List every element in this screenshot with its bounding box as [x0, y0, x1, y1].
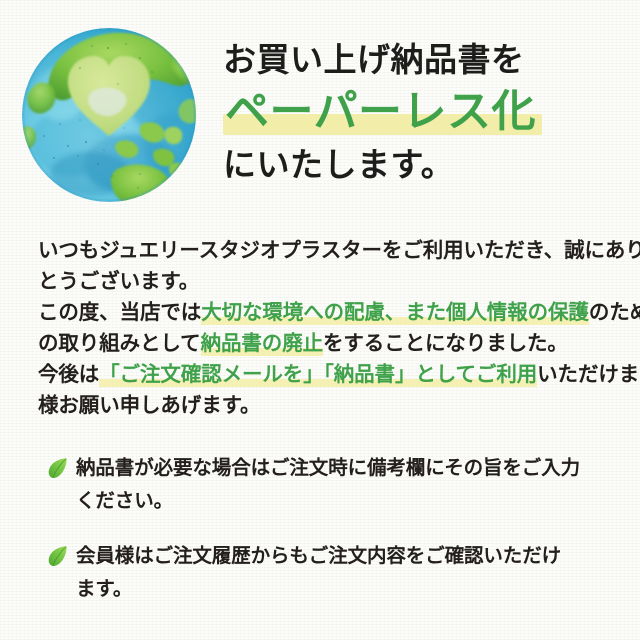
notice-page: お買い上げ納品書を ペーパーレス化 にいたします。 いつもジュエリースタジオプラ… [0, 0, 640, 640]
body-line-1: いつもジュエリースタジオプラスターをご利用いただき、誠にありが [38, 235, 608, 266]
note-1-line-1: 納品書が必要な場合はご注文時に備考欄にその旨をご入力 [76, 457, 580, 479]
page-title: お買い上げ納品書を ペーパーレス化 にいたします。 [223, 38, 635, 187]
list-item: 会員様はご注文履歴からもご注文内容をご確認いただけ ます。 [46, 540, 612, 606]
note-1-line-2: ください。 [76, 490, 173, 512]
note-2-line-2: ます。 [76, 578, 132, 600]
body-text-2-1: とうございます。 [38, 270, 199, 293]
body-text-3-1: この度、当店では [38, 301, 201, 324]
headline-line-2-highlighted: ペーパーレス化 [223, 84, 538, 140]
body-text-3-3: のため [589, 301, 640, 324]
body-line-6: 様お願い申しあげます。 [38, 390, 608, 421]
body-line-3: この度、当店では大切な環境への配慮、また個人情報の保護のため [38, 297, 608, 328]
list-item: 納品書が必要な場合はご注文時に備考欄にその旨をご入力 ください。 [46, 452, 612, 518]
leaf-icon [46, 452, 76, 480]
body-paragraph: いつもジュエリースタジオプラスターをご利用いただき、誠にありがとうございます。こ… [38, 235, 608, 421]
headline-line-3: にいたします。 [223, 143, 635, 187]
body-line-5: 今後は「ご注文確認メールを」「納品書」としてご利用いただけます [38, 359, 608, 390]
note-2-line-1: 会員様はご注文履歴からもご注文内容をご確認いただけ [76, 545, 561, 567]
body-line-2: とうございます。 [38, 266, 608, 297]
body-line-4: の取り組みとして納品書の廃止をすることになりました。 [38, 328, 608, 359]
body-emphasis-3-2: 大切な環境への配慮、また個人情報の保護 [201, 301, 589, 325]
body-emphasis-4-2: 納品書の廃止 [201, 332, 323, 356]
leaf-icon [46, 540, 76, 568]
earth-globe-icon [20, 24, 200, 206]
body-text-6-1: 様お願い申しあげます。 [38, 394, 260, 417]
body-text-4-1: の取り組みとして [38, 332, 201, 355]
body-emphasis-5-2: 「ご注文確認メールを」「納品書」としてご利用 [99, 363, 537, 387]
body-text-5-1: 今後は [38, 363, 99, 386]
body-text-1-1: いつもジュエリースタジオプラスターをご利用いただき、誠にありが [38, 239, 640, 262]
list-item-text: 納品書が必要な場合はご注文時に備考欄にその旨をご入力 ください。 [76, 452, 612, 518]
body-text-5-3: いただけます [537, 363, 640, 386]
earth-globe-illustration [20, 24, 200, 206]
headline-line-2-text: ペーパーレス化 [225, 87, 536, 136]
headline-line-1: お買い上げ納品書を [223, 38, 635, 82]
body-text-4-3: をすることになりました。 [323, 332, 568, 355]
list-item-text: 会員様はご注文履歴からもご注文内容をご確認いただけ ます。 [76, 540, 612, 606]
notes-list: 納品書が必要な場合はご注文時に備考欄にその旨をご入力 ください。 [46, 452, 612, 628]
